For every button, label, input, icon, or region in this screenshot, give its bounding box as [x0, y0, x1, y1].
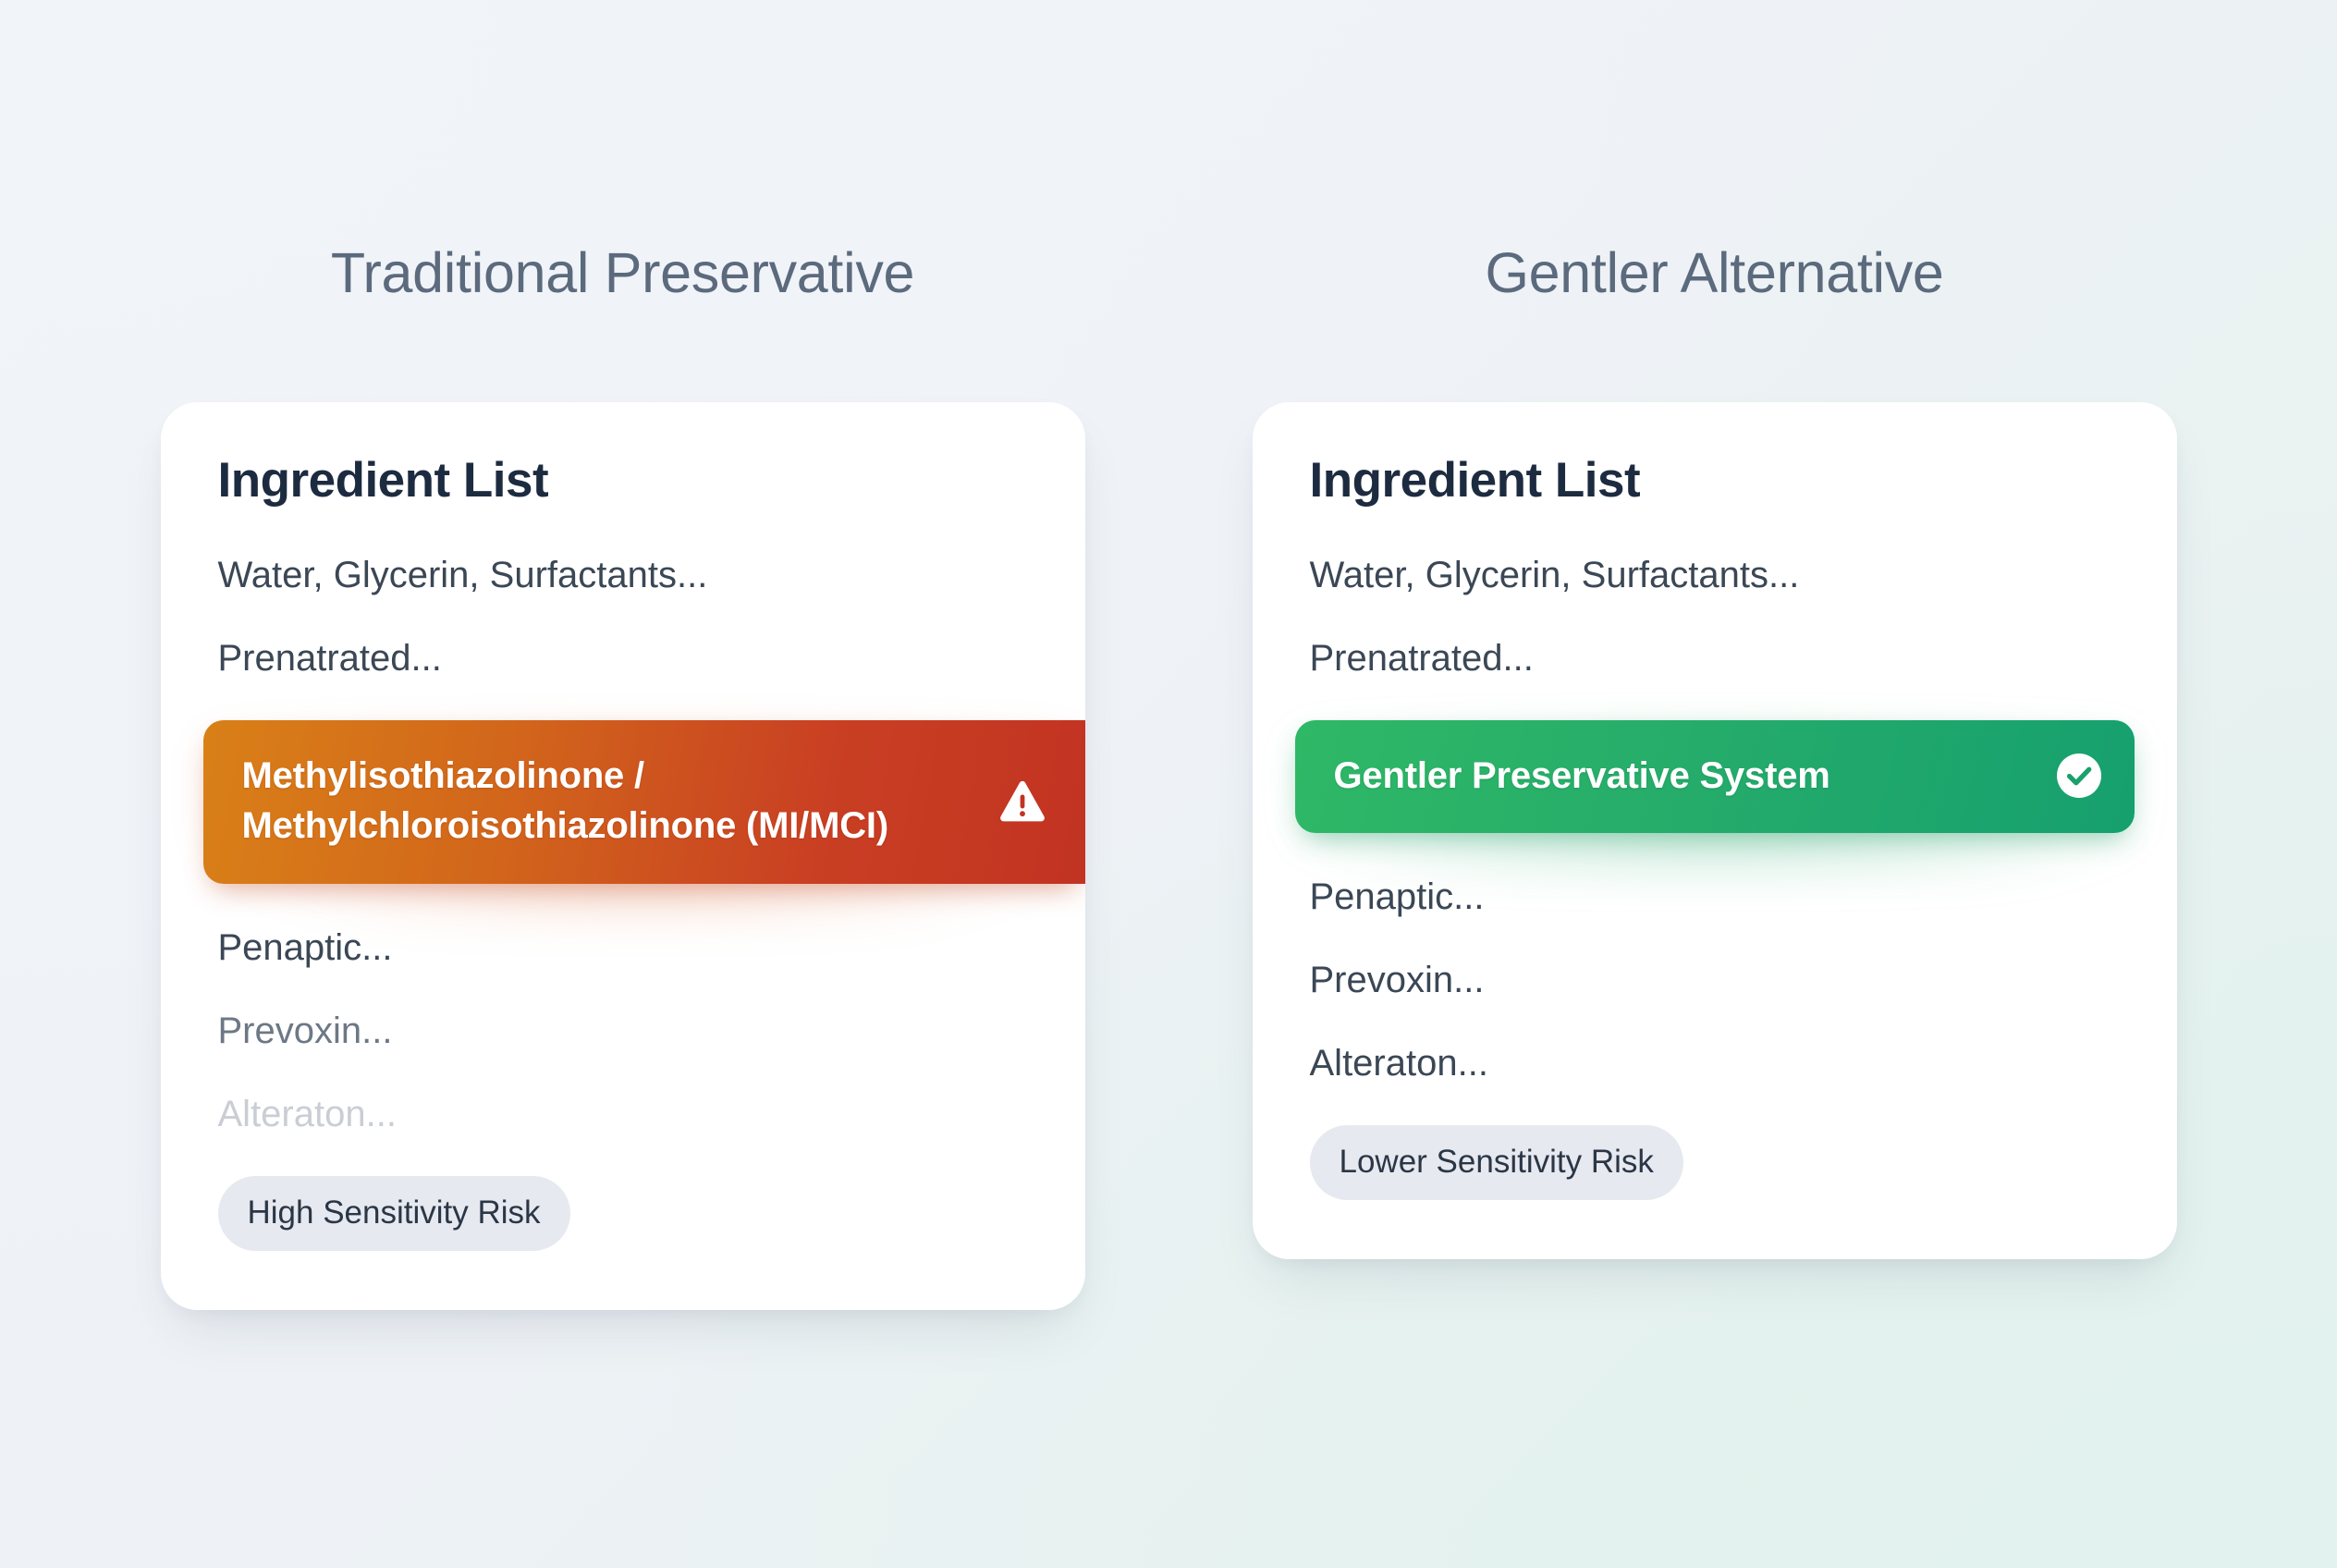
list-item: Alteraton...	[1253, 1042, 2177, 1084]
status-badge-high-sensitivity: High Sensitivity Risk	[218, 1176, 570, 1251]
highlight-row-wrapper-success: Gentler Preservative System	[1253, 720, 2177, 833]
column-title-gentler: Gentler Alternative	[1485, 242, 1943, 304]
list-item: Prenatrated...	[1253, 637, 2177, 680]
card-title-ingredient-list-left: Ingredient List	[161, 454, 1085, 508]
success-row-label: Gentler Preservative System	[1334, 753, 1830, 798]
comparison-columns: Traditional Preservative Ingredient List…	[0, 0, 2337, 1568]
badge-row-left: High Sensitivity Risk	[161, 1176, 1085, 1251]
list-item: Penaptic...	[1253, 876, 2177, 918]
warning-triangle-icon	[997, 776, 1048, 827]
comparison-stage: Traditional Preservative Ingredient List…	[0, 0, 2337, 1568]
ingredient-list-right: Water, Glycerin, Surfactants... Prenatra…	[1253, 554, 2177, 1084]
list-item: Prevoxin...	[1253, 959, 2177, 1001]
column-title-traditional: Traditional Preservative	[331, 242, 914, 304]
list-item: Prenatrated...	[161, 637, 1085, 680]
list-item: Penaptic...	[161, 926, 1085, 969]
card-title-ingredient-list-right: Ingredient List	[1253, 454, 2177, 508]
ingredient-card-gentler: Ingredient List Water, Glycerin, Surfact…	[1253, 402, 2177, 1259]
list-item: Water, Glycerin, Surfactants...	[161, 554, 1085, 596]
danger-row-label-line1: Methylisothiazolinone /	[242, 752, 888, 801]
list-item: Water, Glycerin, Surfactants...	[1253, 554, 2177, 596]
ingredient-card-traditional: Ingredient List Water, Glycerin, Surfact…	[161, 402, 1085, 1310]
column-gentler-alternative: Gentler Alternative Ingredient List Wate…	[1244, 242, 2185, 1568]
ingredient-list-left: Water, Glycerin, Surfactants... Prenatra…	[161, 554, 1085, 1134]
list-item: Alteraton...	[161, 1093, 1085, 1135]
list-item: Prevoxin...	[161, 1010, 1085, 1052]
danger-row-label-line2: Methylchloroisothiazolinone (MI/MCI)	[242, 802, 888, 851]
highlight-row-wrapper-danger: Methylisothiazolinone / Methylchloroisot…	[161, 720, 1085, 883]
check-circle-icon	[2055, 752, 2103, 800]
highlighted-ingredient-success[interactable]: Gentler Preservative System	[1295, 720, 2135, 833]
status-badge-lower-sensitivity: Lower Sensitivity Risk	[1310, 1125, 1683, 1200]
danger-row-text: Methylisothiazolinone / Methylchloroisot…	[242, 752, 888, 850]
column-traditional-preservative: Traditional Preservative Ingredient List…	[153, 242, 1094, 1568]
highlighted-ingredient-danger[interactable]: Methylisothiazolinone / Methylchloroisot…	[203, 720, 1085, 883]
badge-row-right: Lower Sensitivity Risk	[1253, 1125, 2177, 1200]
